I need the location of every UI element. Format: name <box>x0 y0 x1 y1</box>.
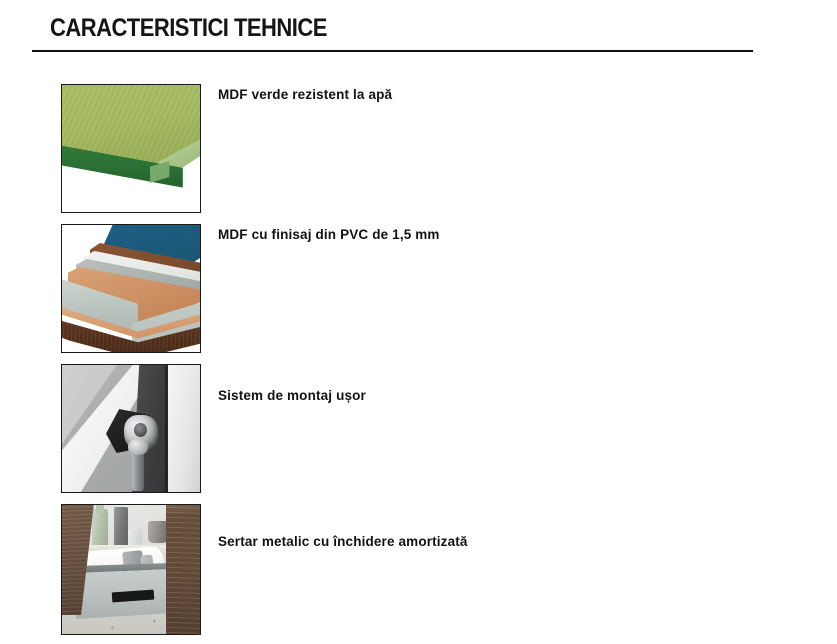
mdf-board-base-shadow <box>62 189 200 212</box>
mounting-peg-tip <box>128 439 148 455</box>
feature-label: Sistem de montaj ușor <box>218 388 366 403</box>
feature-row: Sistem de montaj ușor <box>0 364 837 504</box>
feature-image-frame <box>61 224 201 353</box>
feature-image-frame <box>61 364 201 493</box>
page-title: CARACTERISTICI TEHNICE <box>50 14 327 43</box>
feature-image-frame <box>61 504 201 635</box>
feature-label: MDF cu finisaj din PVC de 1,5 mm <box>218 227 440 242</box>
feature-row: MDF verde rezistent la apă <box>0 84 837 224</box>
feature-label: MDF verde rezistent la apă <box>218 87 392 102</box>
bottle-green-neck <box>96 505 104 513</box>
cabinet-front-edge <box>168 365 200 492</box>
cabinet-side-panel-right-grain <box>166 505 200 634</box>
feature-label: Sertar metalic cu închidere amortizată <box>218 534 468 549</box>
feature-row: Sertar metalic cu închidere amortizată <box>0 504 837 644</box>
pvc-layered-board-icon <box>62 225 200 352</box>
header-divider <box>32 50 753 52</box>
mounting-system-icon <box>62 365 200 492</box>
page-header: CARACTERISTICI TEHNICE <box>0 0 837 56</box>
feature-row: MDF cu finisaj din PVC de 1,5 mm <box>0 224 837 364</box>
soft-close-drawer-icon <box>62 505 200 634</box>
cam-lock-screw-hole <box>134 423 147 437</box>
feature-image-frame <box>61 84 201 213</box>
cup-metal <box>148 521 168 543</box>
green-mdf-board-icon <box>62 85 200 212</box>
